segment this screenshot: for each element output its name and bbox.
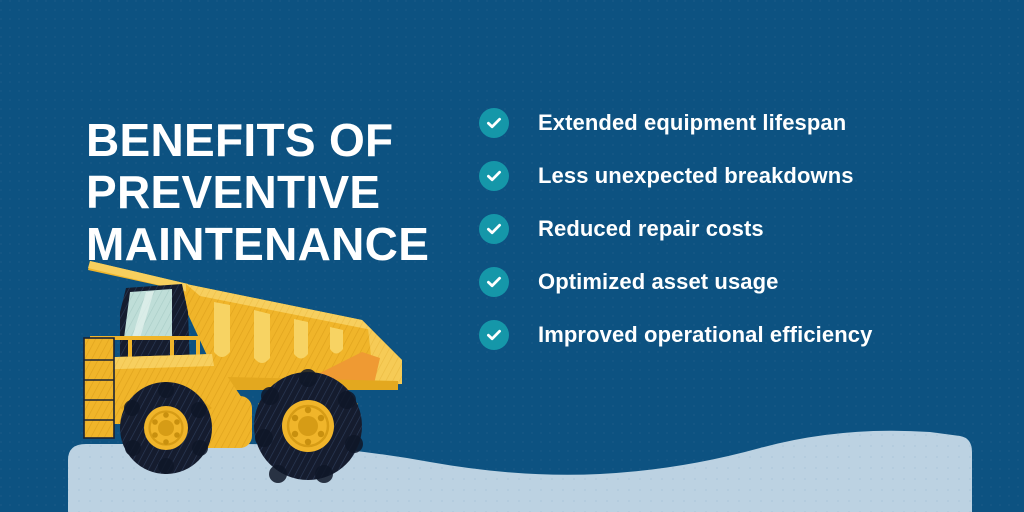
benefit-label: Optimized asset usage [538,269,779,295]
benefit-item-4: Optimized asset usage [479,255,999,308]
benefit-label: Extended equipment lifespan [538,110,846,136]
dump-truck-illustration [62,248,412,488]
check-circle-icon [479,267,509,297]
benefit-label: Reduced repair costs [538,216,764,242]
check-circle-icon [479,161,509,191]
infographic-canvas: BENEFITS OF PREVENTIVE MAINTENANCE Exten… [0,0,1024,512]
benefit-item-5: Improved operational efficiency [479,308,999,361]
check-circle-icon [479,320,509,350]
benefit-label: Less unexpected breakdowns [538,163,854,189]
benefit-label: Improved operational efficiency [538,322,872,348]
page-title: BENEFITS OF PREVENTIVE MAINTENANCE [86,114,476,270]
page-title-line-3: MAINTENANCE [86,218,476,270]
benefit-item-1: Extended equipment lifespan [479,96,999,149]
benefit-item-3: Reduced repair costs [479,202,999,255]
page-title-line-2: PREVENTIVE [86,166,476,218]
check-circle-icon [479,214,509,244]
benefit-item-2: Less unexpected breakdowns [479,149,999,202]
page-title-line-1: BENEFITS OF [86,114,476,166]
check-circle-icon [479,108,509,138]
benefits-list: Extended equipment lifespan Less unexpec… [479,96,999,361]
